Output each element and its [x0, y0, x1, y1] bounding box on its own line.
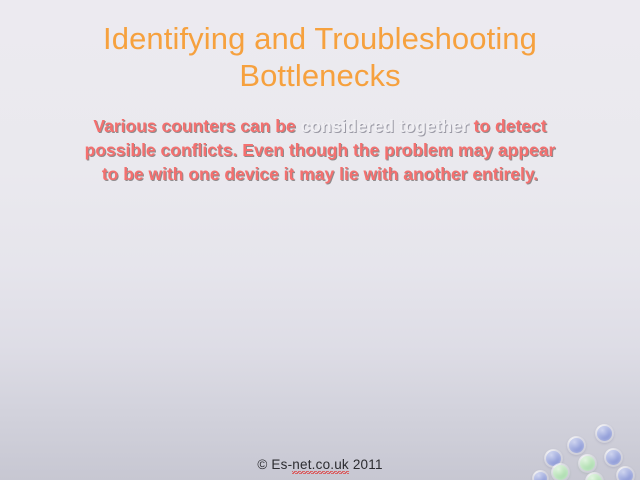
footer-domain-misspelled: net.co.uk — [292, 457, 349, 472]
sphere-blue-icon — [567, 436, 586, 455]
body-highlighted-phrase: considered together — [301, 116, 469, 136]
slide-body-line-1: Various counters can be considered toget… — [20, 114, 620, 138]
slide-canvas: Identifying and Troubleshooting Bottlene… — [0, 0, 640, 480]
slide-title-line-2: Bottlenecks — [40, 57, 600, 94]
sphere-blue-icon — [595, 424, 614, 443]
slide-body-text: Various counters can be considered toget… — [20, 114, 620, 186]
slide-body-line-3: to be with one device it may lie with an… — [20, 162, 620, 186]
slide-title: Identifying and Troubleshooting Bottlene… — [40, 20, 600, 94]
footer-year: 2011 — [349, 457, 383, 472]
body-line-1-suffix: to detect — [469, 116, 547, 136]
slide-body-line-2: possible conflicts. Even though the prob… — [20, 138, 620, 162]
slide-footer: © Es-net.co.uk 2011 — [0, 457, 640, 472]
sphere-green-icon — [585, 472, 604, 480]
footer-prefix: Es- — [267, 457, 292, 472]
copyright-symbol: © — [257, 457, 267, 472]
slide-title-line-1: Identifying and Troubleshooting — [40, 20, 600, 57]
body-line-1-prefix: Various counters can be — [93, 116, 300, 136]
